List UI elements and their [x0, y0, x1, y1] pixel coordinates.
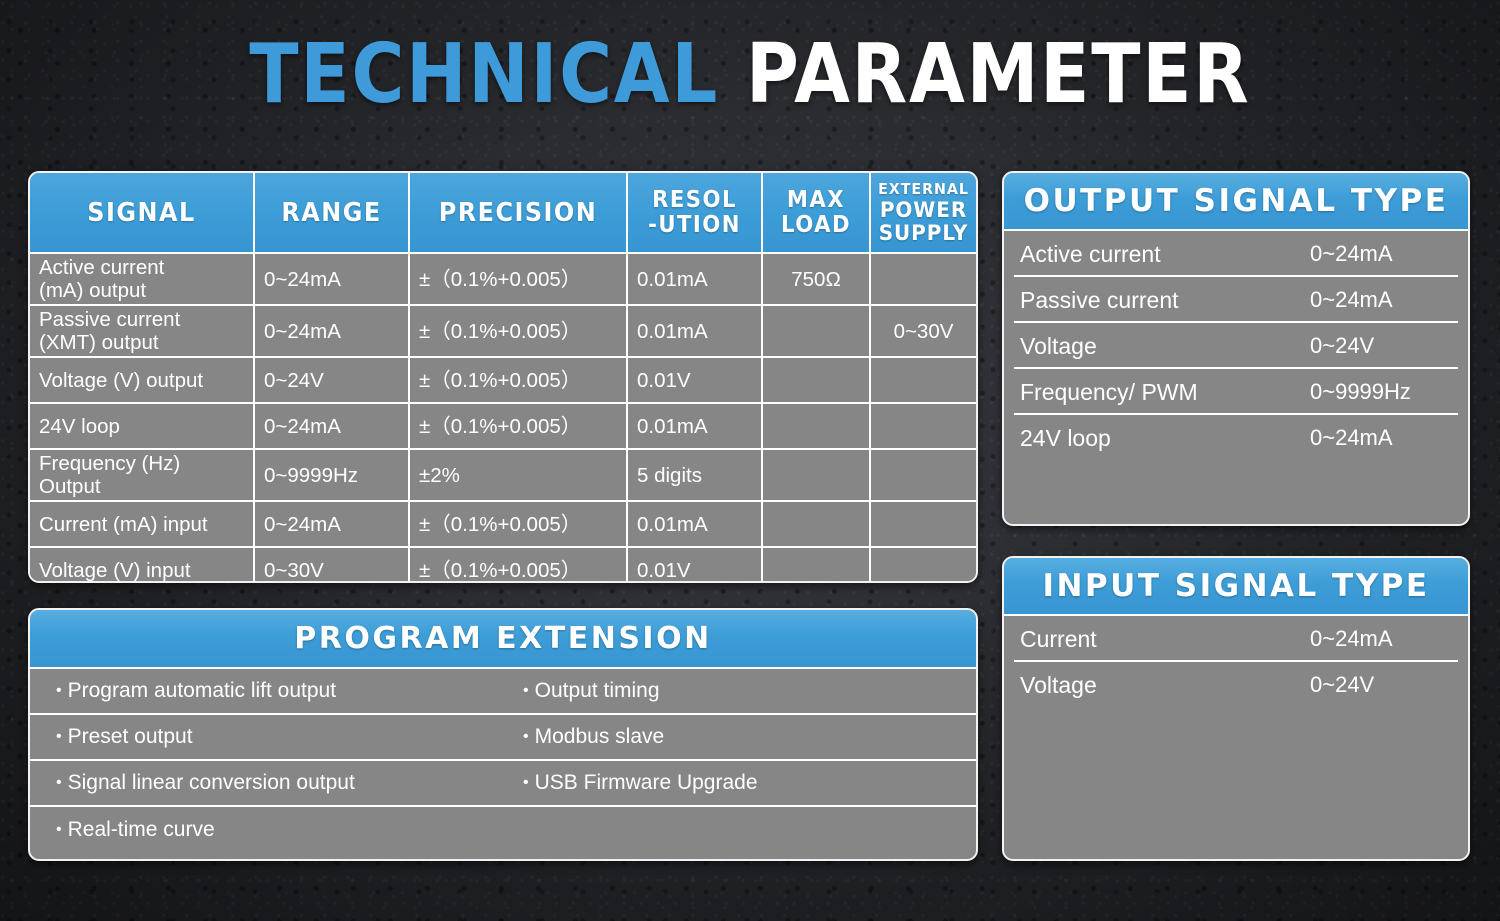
output-signal-name: Passive current	[1020, 287, 1310, 314]
output-signal-name: Voltage	[1020, 333, 1310, 360]
cell-range: 0~9999Hz	[254, 449, 409, 501]
list-item: • Real-time curve	[30, 807, 976, 853]
column-header-signal: SIGNAL	[30, 173, 254, 253]
program-extension-item: • USB Firmware Upgrade	[503, 761, 976, 805]
list-item: Current 0~24mA	[1004, 616, 1468, 662]
table-row: 24V loop 0~24mA ±（0.1%+0.005） 0.01mA	[30, 403, 976, 449]
cell-signal: Voltage (V) output	[30, 357, 254, 403]
program-extension-panel: PROGRAM EXTENSION • Program automatic li…	[28, 608, 978, 861]
input-signal-type-header: INPUT SIGNAL TYPE	[1004, 558, 1468, 616]
output-signal-name: Active current	[1020, 241, 1310, 268]
input-signal-name: Current	[1020, 626, 1310, 653]
program-extension-item: • Real-time curve	[30, 807, 503, 853]
main-spec-table-panel: SIGNAL RANGE PRECISION RESOL -UTION MAX	[28, 171, 978, 583]
cell-external-power-supply	[870, 403, 976, 449]
program-extension-item-label: Preset output	[68, 725, 193, 749]
cell-signal: Passive current (XMT) output	[30, 305, 254, 357]
cell-max-load	[762, 501, 870, 547]
cell-precision: ±（0.1%+0.005）	[409, 501, 627, 547]
program-extension-header: PROGRAM EXTENSION	[30, 610, 976, 669]
cell-signal: Active current (mA) output	[30, 253, 254, 305]
output-signal-value: 0~24V	[1310, 333, 1374, 359]
cell-external-power-supply: 0~30V	[870, 305, 976, 357]
column-header-external-power-supply: EXTERNAL POWER SUPPLY	[870, 173, 976, 253]
column-header-resolution: RESOL -UTION	[627, 173, 762, 253]
cell-resolution: 0.01mA	[627, 501, 762, 547]
input-signal-type-panel: INPUT SIGNAL TYPE Current 0~24mA Voltage…	[1002, 556, 1470, 861]
technical-parameter-page: TECHNICAL PARAMETER SIGNAL RANGE PRECISI…	[0, 0, 1500, 921]
cell-signal: Current (mA) input	[30, 501, 254, 547]
input-signal-type-list: Current 0~24mA Voltage 0~24V	[1004, 616, 1468, 708]
list-item: • Preset output • Modbus slave	[30, 715, 976, 761]
cell-max-load	[762, 547, 870, 583]
program-extension-item-label: Output timing	[535, 679, 660, 703]
input-signal-value: 0~24V	[1310, 672, 1374, 698]
output-signal-type-panel: OUTPUT SIGNAL TYPE Active current 0~24mA…	[1002, 171, 1470, 526]
cell-resolution: 0.01mA	[627, 305, 762, 357]
output-signal-value: 0~24mA	[1310, 425, 1393, 451]
cell-range: 0~24V	[254, 357, 409, 403]
program-extension-list: • Program automatic lift output • Output…	[30, 669, 976, 853]
bullet-icon: •	[523, 729, 529, 745]
main-spec-table: SIGNAL RANGE PRECISION RESOL -UTION MAX	[30, 173, 976, 583]
cell-max-load	[762, 403, 870, 449]
program-extension-item: • Preset output	[30, 715, 503, 759]
program-extension-item-label: Program automatic lift output	[68, 679, 336, 703]
output-signal-value: 0~24mA	[1310, 287, 1393, 313]
output-signal-name: 24V loop	[1020, 425, 1310, 452]
table-row: Voltage (V) output 0~24V ±（0.1%+0.005） 0…	[30, 357, 976, 403]
list-item: Frequency/ PWM 0~9999Hz	[1004, 369, 1468, 415]
cell-signal: Frequency (Hz) Output	[30, 449, 254, 501]
bullet-icon: •	[523, 775, 529, 791]
page-title-white: PARAMETER	[746, 27, 1251, 122]
output-signal-value: 0~9999Hz	[1310, 379, 1411, 405]
output-signal-type-header: OUTPUT SIGNAL TYPE	[1004, 173, 1468, 231]
cell-resolution: 5 digits	[627, 449, 762, 501]
cell-signal: 24V loop	[30, 403, 254, 449]
bullet-icon: •	[56, 775, 62, 791]
cell-resolution: 0.01mA	[627, 403, 762, 449]
column-header-range: RANGE	[254, 173, 409, 253]
cell-precision: ±（0.1%+0.005）	[409, 305, 627, 357]
cell-precision: ±2%	[409, 449, 627, 501]
list-item: • Program automatic lift output • Output…	[30, 669, 976, 715]
cell-max-load	[762, 357, 870, 403]
program-extension-item-label: USB Firmware Upgrade	[535, 771, 758, 795]
cell-max-load	[762, 305, 870, 357]
page-title: TECHNICAL PARAMETER	[90, 34, 1410, 116]
column-header-max-load: MAX LOAD	[762, 173, 870, 253]
cell-resolution: 0.01V	[627, 547, 762, 583]
program-extension-item: • Program automatic lift output	[30, 669, 503, 713]
table-row: Current (mA) input 0~24mA ±（0.1%+0.005） …	[30, 501, 976, 547]
cell-range: 0~24mA	[254, 305, 409, 357]
output-signal-value: 0~24mA	[1310, 241, 1393, 267]
list-item: Voltage 0~24V	[1004, 662, 1468, 708]
cell-precision: ±（0.1%+0.005）	[409, 403, 627, 449]
cell-range: 0~24mA	[254, 253, 409, 305]
list-item: • Signal linear conversion output • USB …	[30, 761, 976, 807]
cell-external-power-supply	[870, 449, 976, 501]
cell-resolution: 0.01V	[627, 357, 762, 403]
program-extension-item: • Modbus slave	[503, 715, 976, 759]
cell-max-load	[762, 449, 870, 501]
list-item: 24V loop 0~24mA	[1004, 415, 1468, 461]
table-header-row: SIGNAL RANGE PRECISION RESOL -UTION MAX	[30, 173, 976, 253]
output-signal-type-list: Active current 0~24mA Passive current 0~…	[1004, 231, 1468, 461]
program-extension-item-label: Signal linear conversion output	[68, 771, 355, 795]
list-item: Active current 0~24mA	[1004, 231, 1468, 277]
output-signal-name: Frequency/ PWM	[1020, 379, 1310, 406]
cell-range: 0~24mA	[254, 501, 409, 547]
program-extension-item-label: Real-time curve	[68, 818, 215, 842]
input-signal-value: 0~24mA	[1310, 626, 1393, 652]
table-row: Active current (mA) output 0~24mA ±（0.1%…	[30, 253, 976, 305]
column-header-precision: PRECISION	[409, 173, 627, 253]
page-title-blue: TECHNICAL	[249, 27, 719, 122]
cell-precision: ±（0.1%+0.005）	[409, 547, 627, 583]
input-signal-name: Voltage	[1020, 672, 1310, 699]
program-extension-item: • Output timing	[503, 669, 976, 713]
cell-precision: ±（0.1%+0.005）	[409, 253, 627, 305]
program-extension-item-label: Modbus slave	[535, 725, 665, 749]
table-row: Voltage (V) input 0~30V ±（0.1%+0.005） 0.…	[30, 547, 976, 583]
cell-external-power-supply	[870, 547, 976, 583]
cell-external-power-supply	[870, 253, 976, 305]
bullet-icon: •	[523, 683, 529, 699]
bullet-icon: •	[56, 822, 62, 838]
bullet-icon: •	[56, 729, 62, 745]
list-item: Voltage 0~24V	[1004, 323, 1468, 369]
program-extension-item: • Signal linear conversion output	[30, 761, 503, 805]
bullet-icon: •	[56, 683, 62, 699]
table-row: Passive current (XMT) output 0~24mA ±（0.…	[30, 305, 976, 357]
program-extension-item-empty	[503, 807, 976, 853]
cell-precision: ±（0.1%+0.005）	[409, 357, 627, 403]
cell-external-power-supply	[870, 501, 976, 547]
cell-range: 0~24mA	[254, 403, 409, 449]
cell-signal: Voltage (V) input	[30, 547, 254, 583]
cell-range: 0~30V	[254, 547, 409, 583]
cell-max-load: 750Ω	[762, 253, 870, 305]
cell-external-power-supply	[870, 357, 976, 403]
list-item: Passive current 0~24mA	[1004, 277, 1468, 323]
table-row: Frequency (Hz) Output 0~9999Hz ±2% 5 dig…	[30, 449, 976, 501]
cell-resolution: 0.01mA	[627, 253, 762, 305]
